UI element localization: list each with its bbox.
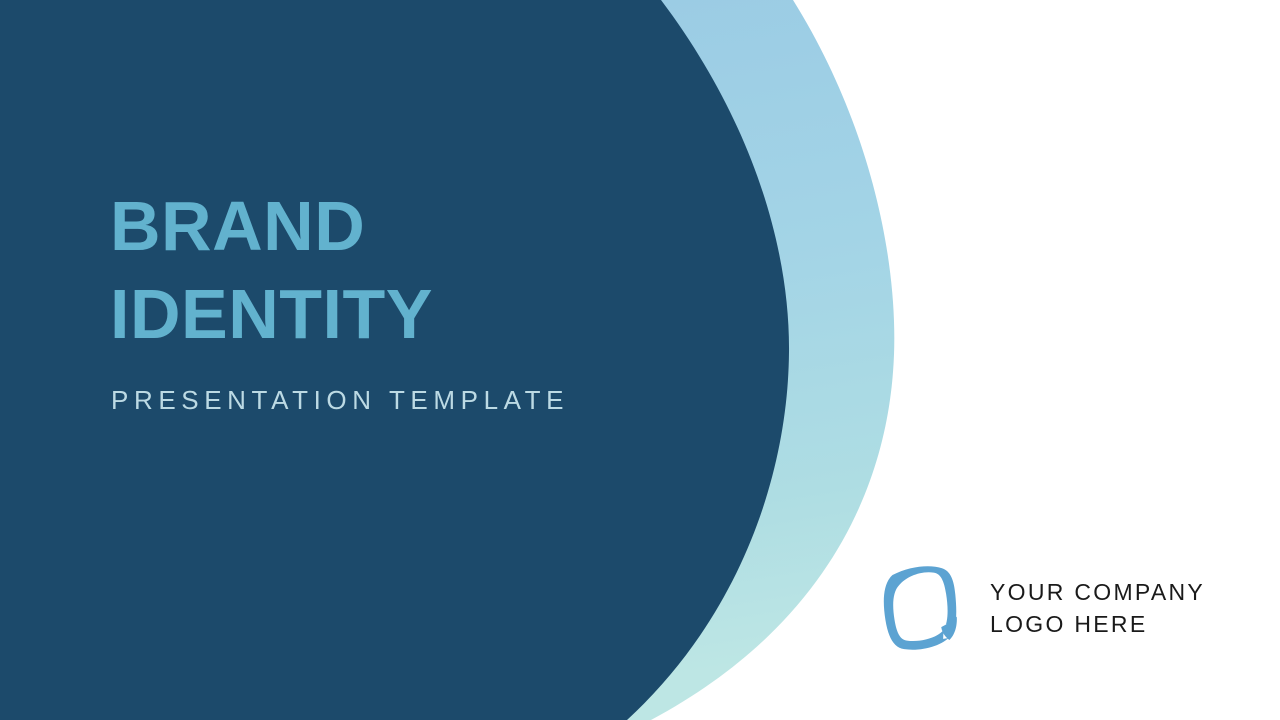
- logo-text: YOUR COMPANY LOGO HERE: [990, 576, 1205, 640]
- rounded-square-ring-logo-icon: [878, 562, 964, 654]
- logo-lockup: YOUR COMPANY LOGO HERE: [878, 562, 1205, 654]
- title-block: BRAND IDENTITY: [110, 182, 710, 358]
- presentation-slide: BRAND IDENTITY PRESENTATION TEMPLATE YOU…: [0, 0, 1280, 720]
- accent-curve-shape: [0, 0, 894, 720]
- navy-panel-shape: [0, 0, 789, 720]
- slide-subtitle: PRESENTATION TEMPLATE: [111, 385, 569, 416]
- page-title: BRAND IDENTITY: [110, 182, 710, 358]
